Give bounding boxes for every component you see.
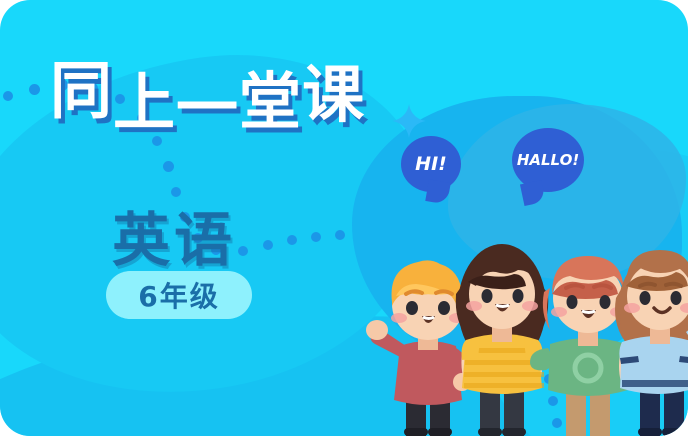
decor-dot [335, 230, 345, 240]
decor-dot [311, 232, 321, 242]
title-char: 课 [302, 44, 365, 134]
page-title: 同上一堂课 [50, 44, 365, 134]
title-char: 堂 [239, 51, 302, 141]
grade-badge: 6年级 [106, 271, 252, 319]
decor-dot [287, 235, 297, 245]
sparkle-icon [392, 104, 426, 138]
character-light-brown-girl-waving [608, 240, 688, 436]
speech-bubble-hi: HI! [401, 136, 461, 192]
title-char: 一 [176, 57, 239, 147]
decor-dot [3, 91, 13, 101]
decor-dot [263, 240, 273, 250]
title-char: 上 [113, 52, 176, 142]
decor-dot [238, 246, 248, 256]
speech-bubble-hallo: HALLO! [512, 128, 584, 192]
title-char: 同 [50, 40, 113, 130]
course-cover-card: 同上一堂课 英语 6年级 HI! HALLO! [0, 0, 688, 436]
children-illustration [352, 186, 662, 436]
decor-dot [163, 161, 174, 172]
subject-label: 英语 [112, 193, 236, 277]
decor-dot [29, 84, 40, 95]
